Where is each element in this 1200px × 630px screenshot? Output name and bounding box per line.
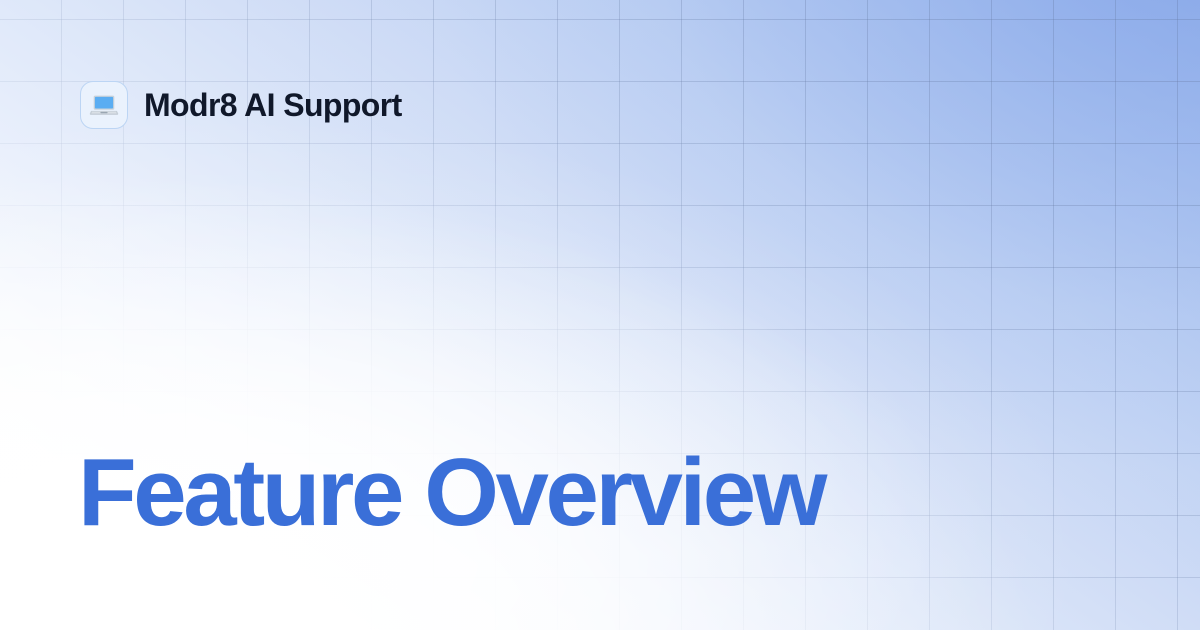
- og-banner-card: Modr8 AI Support Feature Overview: [0, 0, 1200, 630]
- brand-icon-badge: [80, 81, 128, 129]
- brand-row: Modr8 AI Support: [80, 81, 402, 129]
- brand-name: Modr8 AI Support: [144, 89, 402, 121]
- page-title: Feature Overview: [78, 445, 824, 541]
- banner-content: Modr8 AI Support Feature Overview: [0, 0, 1200, 630]
- laptop-icon: [89, 90, 119, 120]
